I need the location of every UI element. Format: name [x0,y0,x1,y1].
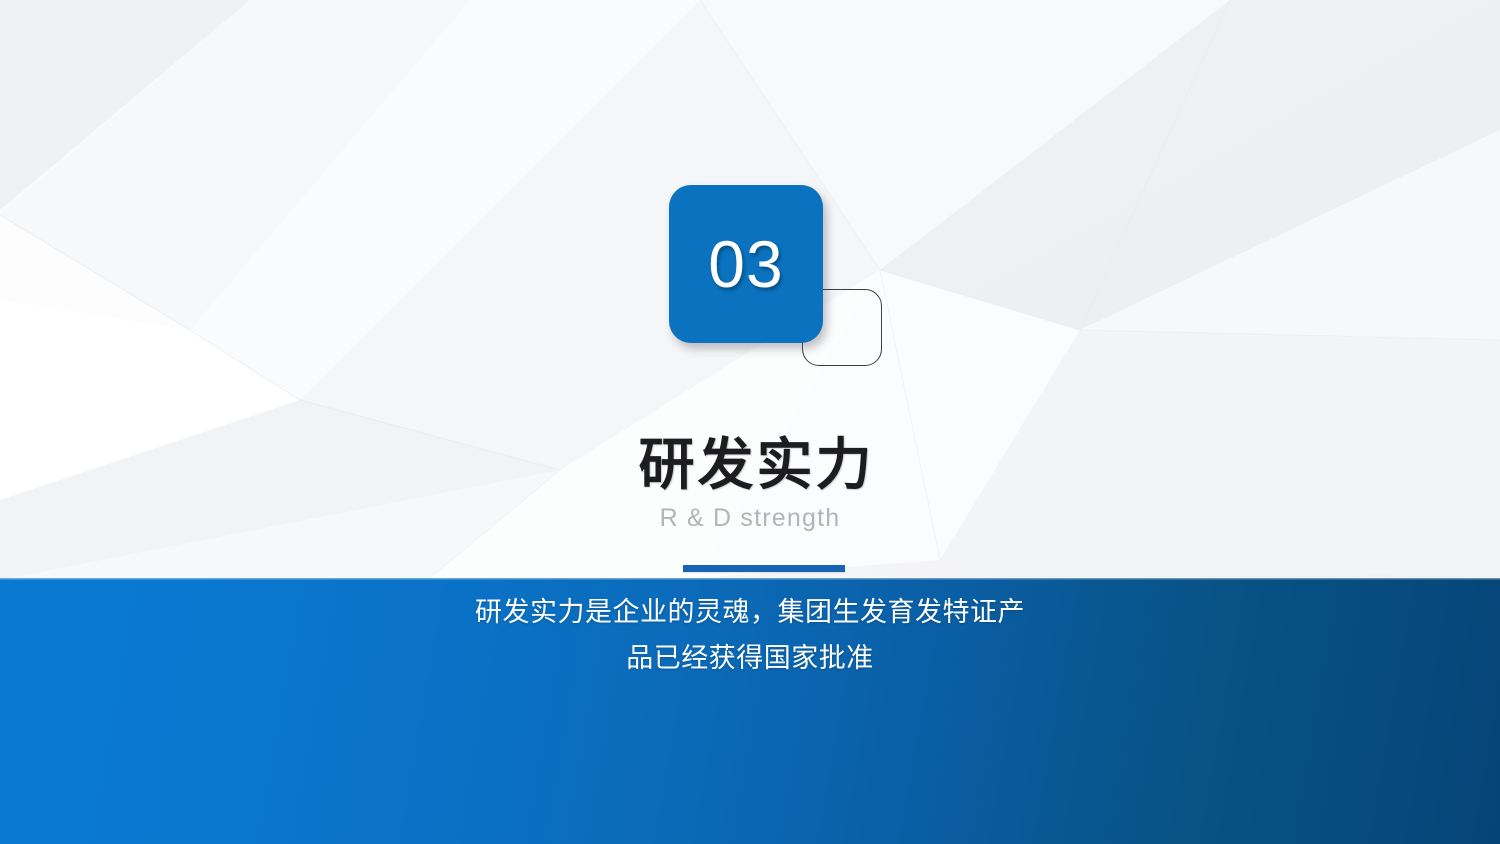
badge-filled-square: 03 [669,185,823,343]
panel-description-line-1: 研发实力是企业的灵魂，集团生发育发特证产 [0,590,1500,636]
panel-description: 研发实力是企业的灵魂，集团生发育发特证产 品已经获得国家批准 [0,590,1500,682]
panel-description-line-2: 品已经获得国家批准 [0,636,1500,682]
page-subtitle: R & D strength [0,502,1500,534]
title-accent-bar [683,565,845,572]
page-title: 研发实力 [0,432,1500,498]
section-number-text: 03 [669,185,823,343]
footer-blue-panel: 研发实力是企业的灵魂，集团生发育发特证产 品已经获得国家批准 [0,578,1500,844]
headline-block: 研发实力 R & D strength [0,432,1500,534]
section-number-badge: 03 [664,182,894,377]
presentation-slide: 03 研发实力 R & D strength 研发实力是企业的灵魂，集团生发育发… [0,0,1500,844]
